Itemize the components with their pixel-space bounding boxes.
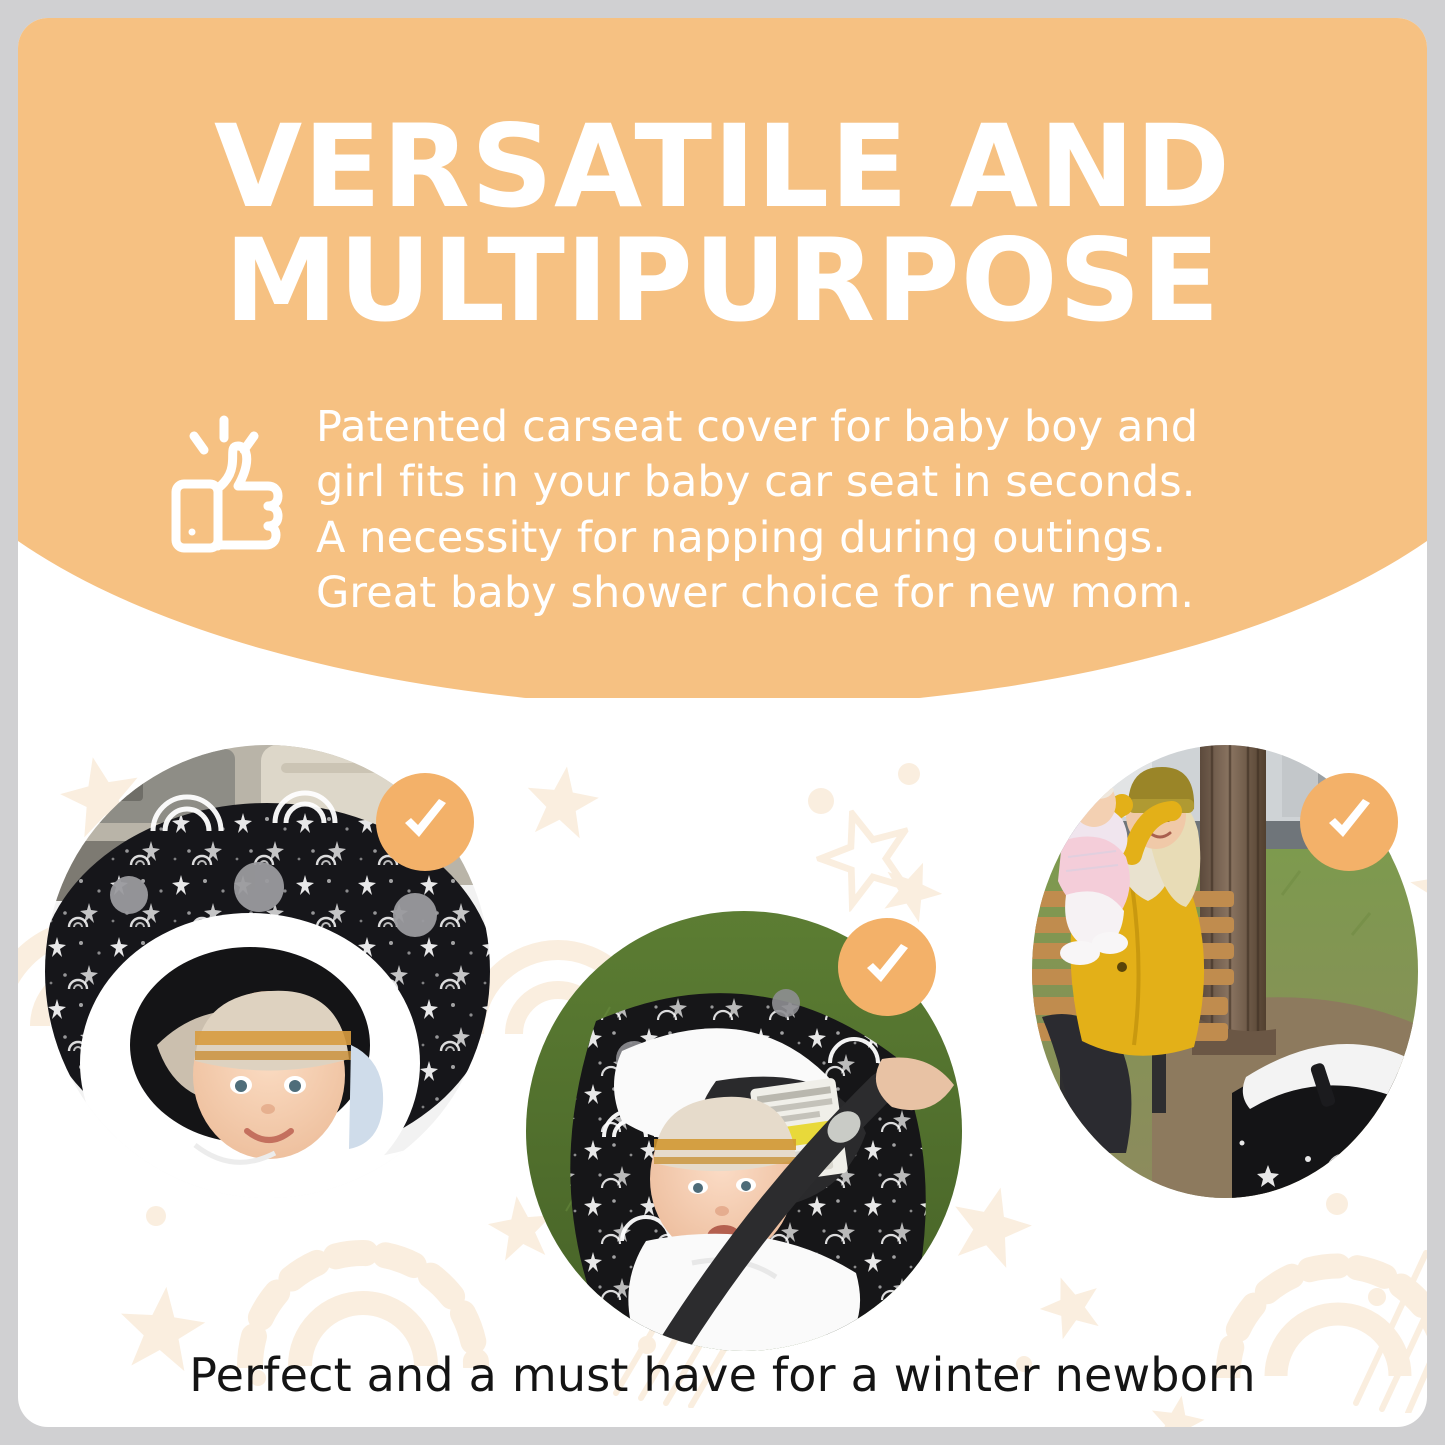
check-badge-2: [838, 918, 936, 1016]
check-icon: [857, 937, 917, 997]
check-icon: [1319, 792, 1379, 852]
hero-panel: VERSATILE AND MULTIPURPOSE: [18, 18, 1427, 698]
star-watermark: [518, 758, 606, 846]
footer-caption: Perfect and a must have for a winter new…: [18, 1348, 1427, 1402]
hero-blurb-row: Patented carseat cover for baby boy and …: [168, 400, 1348, 622]
dot-watermark: [898, 763, 920, 785]
check-badge-3: [1300, 773, 1398, 871]
infographic-card: VERSATILE AND MULTIPURPOSE: [18, 18, 1427, 1427]
dot-watermark: [146, 1206, 166, 1226]
star-outline-watermark: [806, 796, 927, 917]
rainbow-arch-watermark: [218, 1178, 508, 1368]
dot-watermark: [808, 788, 834, 814]
thumbs-up-icon: [168, 414, 286, 554]
hero-description: Patented carseat cover for baby boy and …: [316, 400, 1348, 622]
dot-watermark: [1368, 1288, 1386, 1306]
page-title: VERSATILE AND MULTIPURPOSE: [18, 110, 1427, 338]
product-infographic: VERSATILE AND MULTIPURPOSE: [0, 0, 1445, 1445]
star-watermark: [1029, 1264, 1114, 1349]
check-icon: [395, 792, 455, 852]
check-badge-1: [376, 773, 474, 871]
